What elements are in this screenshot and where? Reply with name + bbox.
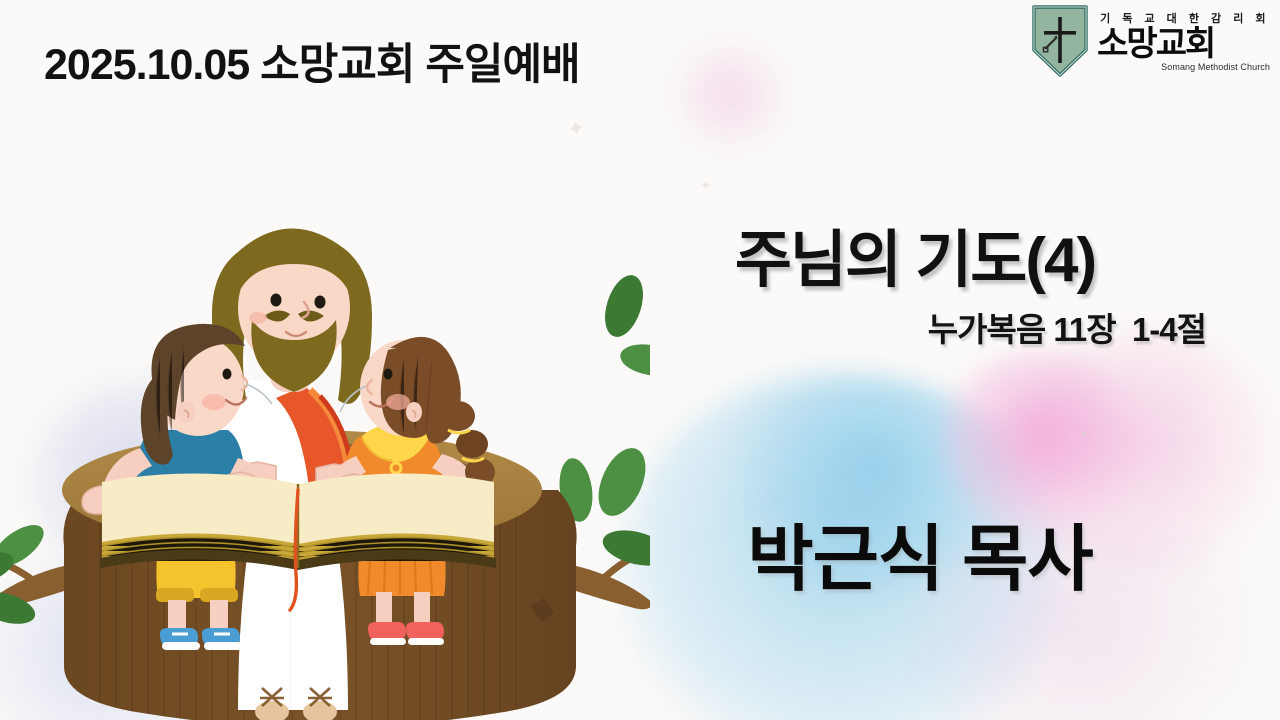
shield-cross-icon — [1031, 4, 1089, 78]
sermon-scripture-reference: 누가복음 11장 1-4절 — [600, 303, 1230, 351]
logo-english-name: Somang Methodist Church — [1097, 62, 1270, 72]
preacher-name: 박근식 목사 — [600, 500, 1240, 605]
service-title: 2025.10.05 소망교회 주일예배 — [44, 30, 580, 92]
sermon-slide: ✦ ✦ • 2025.10.05 소망교회 주일예배 기 독 교 대 한 감 리… — [0, 0, 1280, 720]
sermon-title: 주님의 기도(4) — [600, 228, 1230, 293]
logo-text-block: 기 독 교 대 한 감 리 회 소망교회 Somang Methodist Ch… — [1097, 10, 1270, 73]
logo-denomination: 기 독 교 대 한 감 리 회 — [1100, 10, 1270, 26]
sermon-text-block: 주님의 기도(4) 누가복음 11장 1-4절 — [600, 228, 1230, 351]
logo-church-name: 소망교회 — [1097, 27, 1270, 62]
sparkle-small-icon: ✦ — [700, 178, 712, 192]
jesus-with-children-illustration — [0, 190, 650, 720]
dot-speck-icon: • — [1083, 430, 1087, 440]
sparkle-icon: ✦ — [565, 116, 588, 141]
church-logo: 기 독 교 대 한 감 리 회 소망교회 Somang Methodist Ch… — [1031, 4, 1270, 78]
watercolor-blob-pink-title — [660, 40, 800, 150]
